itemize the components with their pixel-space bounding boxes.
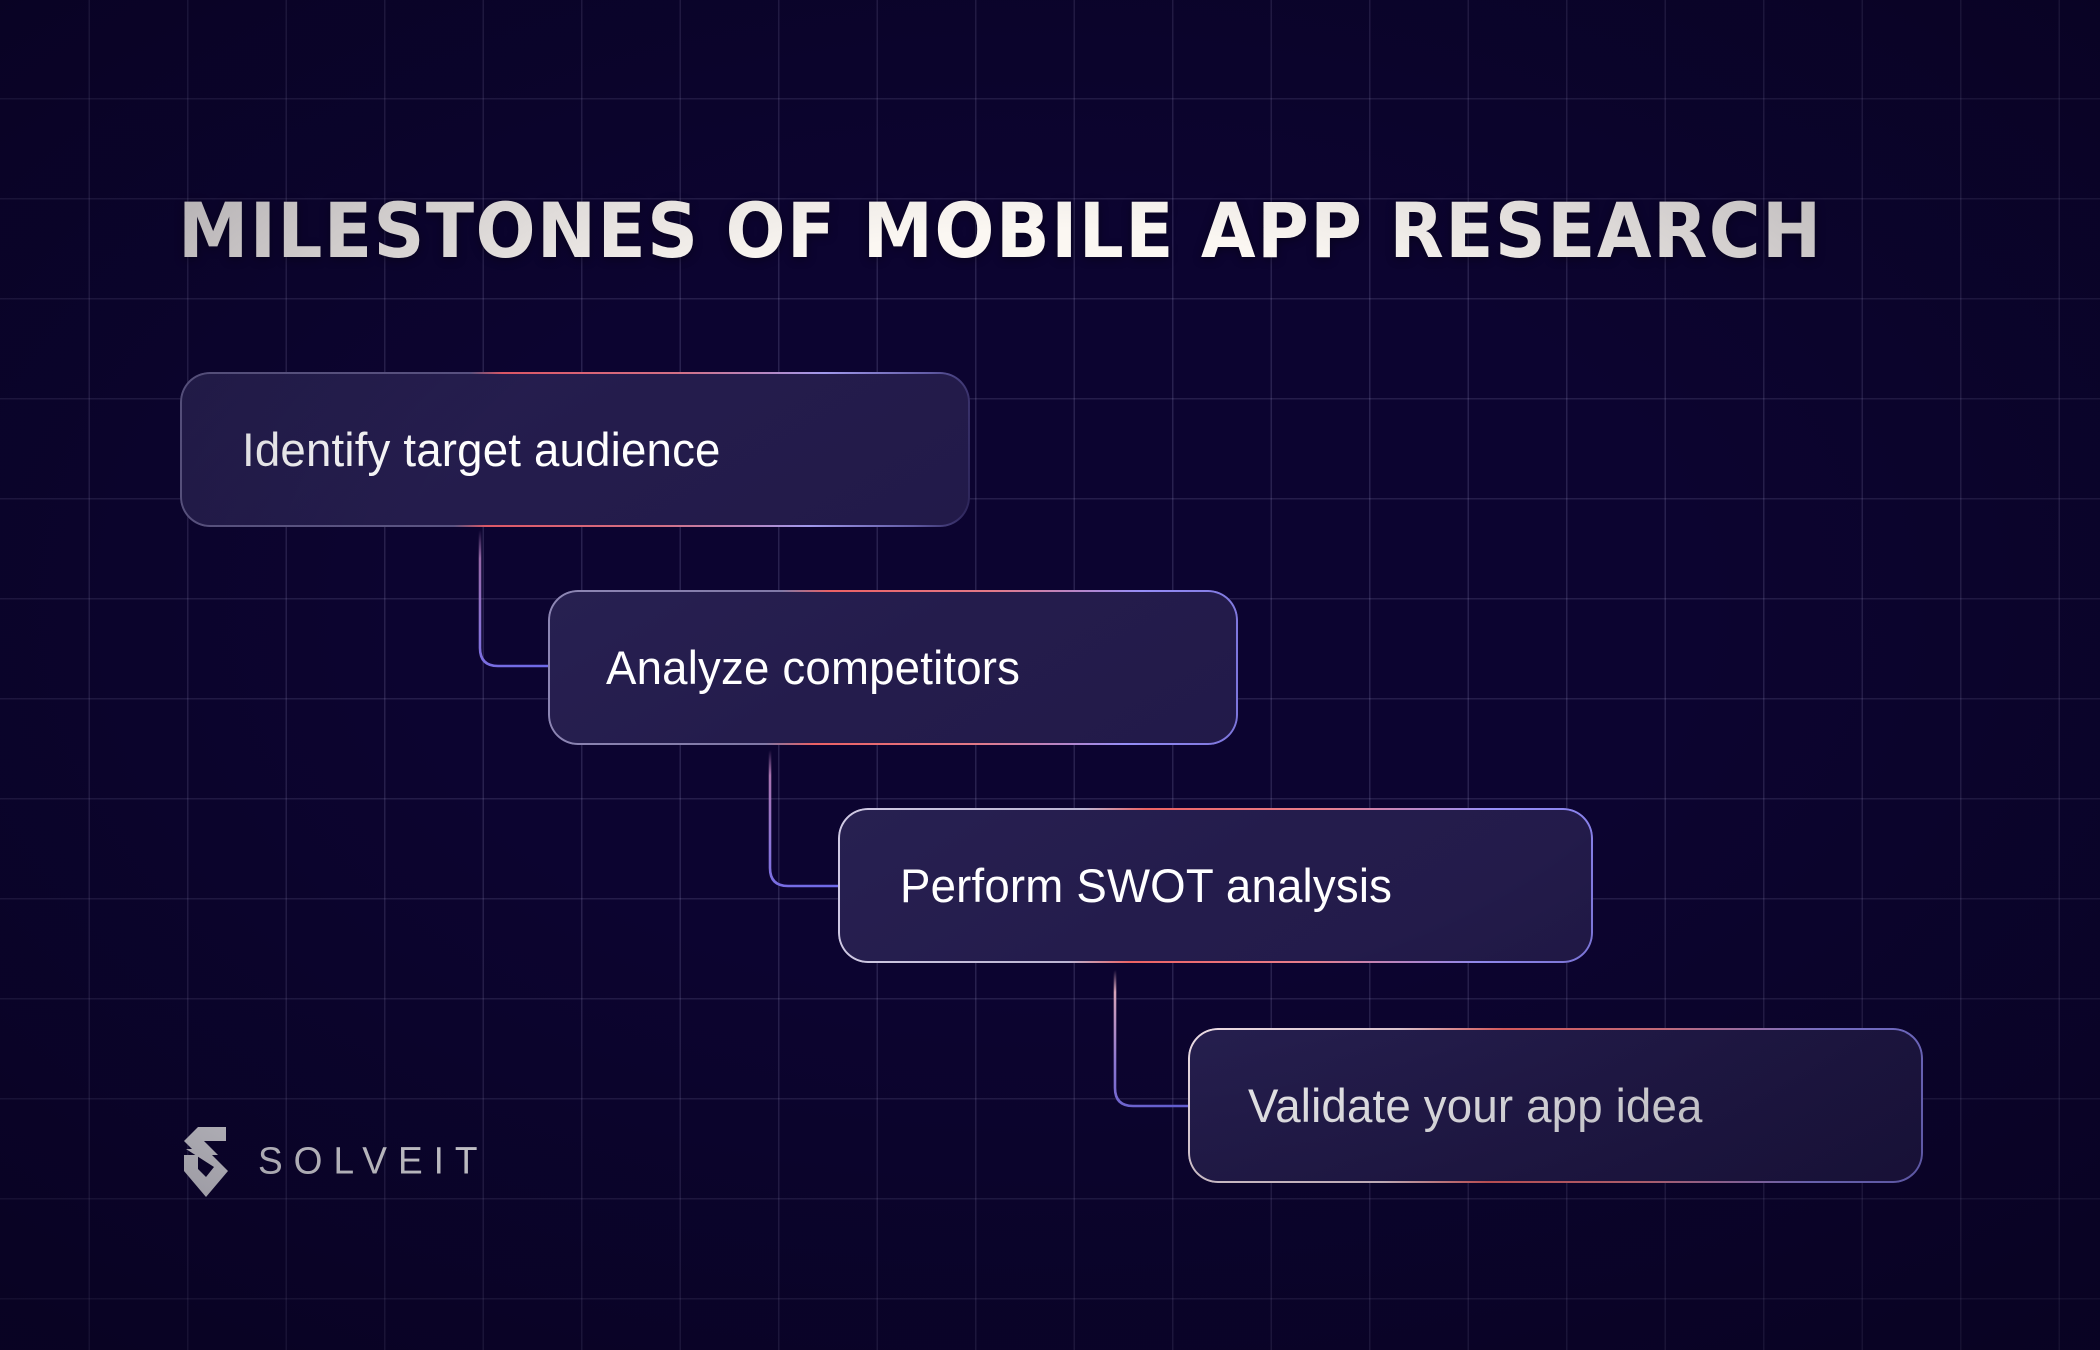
page-title: MILESTONES OF MOBILE APP RESEARCH <box>178 186 1823 275</box>
milestone-card-3[interactable]: Perform SWOT analysis <box>838 808 1593 963</box>
milestone-card-2-label: Analyze competitors <box>606 640 1020 695</box>
milestone-card-4-label: Validate your app idea <box>1248 1078 1703 1133</box>
solveit-logo[interactable]: SOLVEIT <box>180 1125 489 1197</box>
milestone-card-3-label: Perform SWOT analysis <box>900 858 1392 913</box>
solveit-wordmark: SOLVEIT <box>258 1139 489 1182</box>
milestone-card-1-label: Identify target audience <box>242 422 721 477</box>
solveit-pin-logo-icon <box>180 1125 232 1197</box>
milestone-card-1[interactable]: Identify target audience <box>180 372 970 527</box>
milestone-card-4[interactable]: Validate your app idea <box>1188 1028 1923 1183</box>
milestone-card-2[interactable]: Analyze competitors <box>548 590 1238 745</box>
